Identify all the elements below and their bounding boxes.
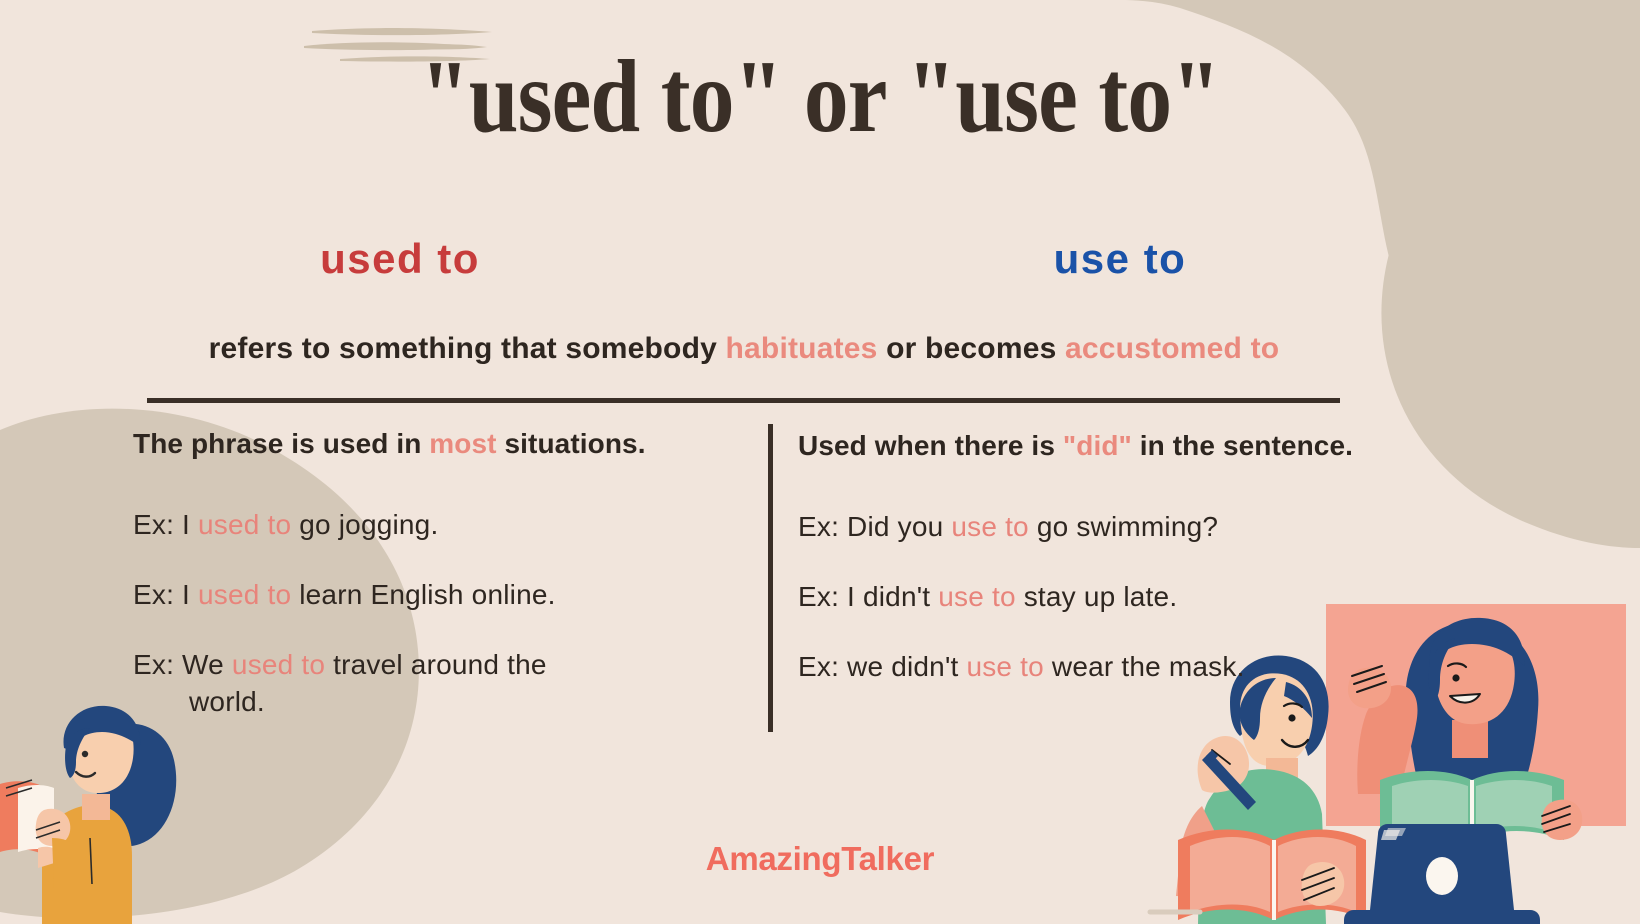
horizontal-divider	[147, 398, 1340, 403]
left-ex1-post: go jogging.	[291, 509, 438, 540]
right-ex2-pre: Ex: I didn't	[798, 581, 938, 612]
left-column-rule: The phrase is used in most situations.	[133, 428, 748, 460]
left-example-2: Ex: I used to learn English online.	[133, 576, 748, 614]
page-title: "used to" or "use to"	[115, 42, 1525, 151]
right-column: Used when there is "did" in the sentence…	[798, 430, 1478, 717]
column-header-use-to: use to	[760, 235, 1480, 283]
left-ex2-post: learn English online.	[291, 579, 555, 610]
left-ex2-pre: Ex: I	[133, 579, 198, 610]
right-ex1-pre: Ex: Did you	[798, 511, 951, 542]
left-example-3: Ex: We used to travel around the world.	[133, 646, 673, 722]
right-ex1-highlight: use to	[951, 511, 1028, 542]
left-ex1-highlight: used to	[198, 509, 291, 540]
left-rule-pre: The phrase is used in	[133, 428, 429, 459]
right-example-3: Ex: we didn't use to wear the mask.	[798, 648, 1478, 686]
left-ex3-pre: Ex: We	[133, 649, 232, 680]
left-rule-post: situations.	[497, 428, 646, 459]
subtitle-mid: or becomes	[878, 332, 1065, 365]
left-ex3-cont: world.	[189, 686, 265, 717]
infographic-canvas: "used to" or "use to" used to use to ref…	[0, 0, 1640, 924]
right-ex1-post: go swimming?	[1029, 511, 1218, 542]
right-ex3-post: wear the mask.	[1044, 651, 1245, 682]
left-ex3-post: travel around the	[325, 649, 547, 680]
left-ex2-highlight: used to	[198, 579, 291, 610]
right-rule-pre: Used when there is	[798, 430, 1063, 461]
vertical-divider	[768, 424, 773, 732]
subtitle: refers to something that somebody habitu…	[0, 332, 1488, 366]
left-rule-highlight: most	[429, 428, 496, 459]
subtitle-highlight-habituates: habituates	[726, 332, 878, 365]
left-ex3-highlight: used to	[232, 649, 325, 680]
right-rule-post: in the sentence.	[1132, 430, 1353, 461]
right-ex3-pre: Ex: we didn't	[798, 651, 966, 682]
left-column: The phrase is used in most situations. E…	[133, 428, 748, 753]
column-header-used-to: used to	[0, 235, 800, 283]
left-ex1-pre: Ex: I	[133, 509, 198, 540]
right-rule-highlight: "did"	[1063, 430, 1132, 461]
right-ex2-post: stay up late.	[1016, 581, 1178, 612]
right-ex3-highlight: use to	[966, 651, 1043, 682]
left-example-1: Ex: I used to go jogging.	[133, 506, 748, 544]
subtitle-pre: refers to something that somebody	[209, 332, 726, 365]
right-example-1: Ex: Did you use to go swimming?	[798, 508, 1478, 546]
subtitle-highlight-accustomed: accustomed to	[1065, 332, 1279, 365]
right-column-rule: Used when there is "did" in the sentence…	[798, 430, 1478, 462]
brand-label: AmazingTalker	[0, 840, 1640, 878]
right-example-2: Ex: I didn't use to stay up late.	[798, 578, 1478, 616]
right-ex2-highlight: use to	[938, 581, 1015, 612]
